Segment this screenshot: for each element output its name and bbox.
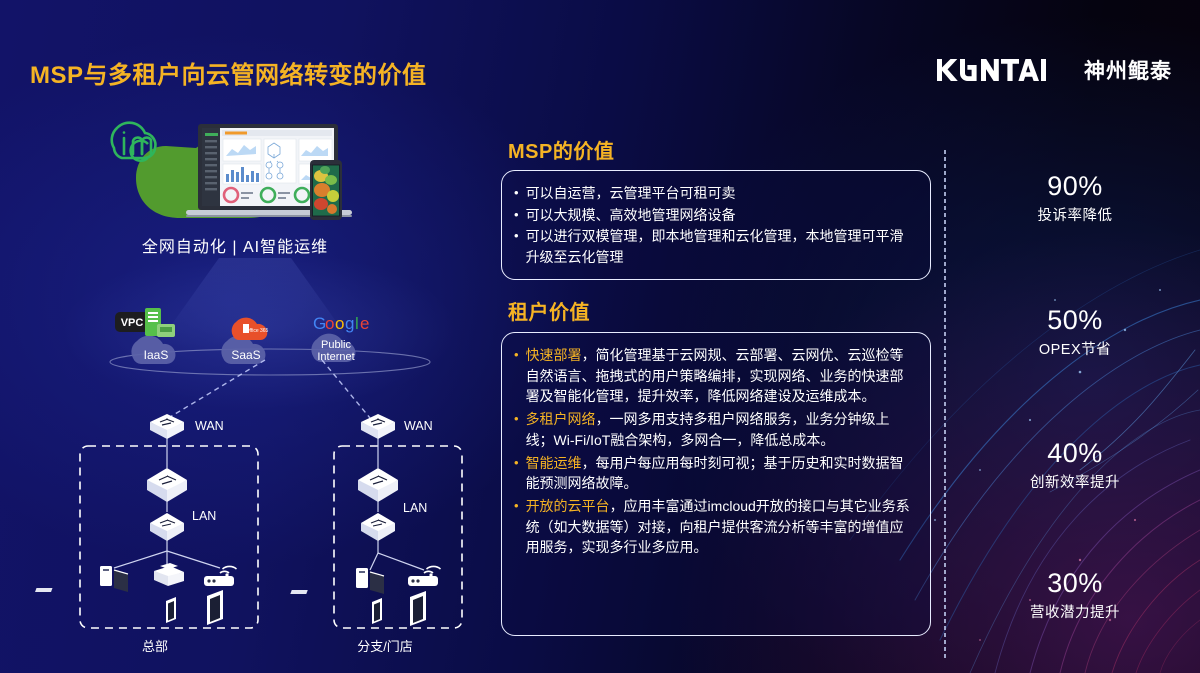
svg-text:Office 365: Office 365 bbox=[246, 328, 269, 334]
stat-number: 50% bbox=[960, 304, 1190, 336]
tablet-icon bbox=[166, 597, 176, 623]
msp-bullet-list: • 可以自运营，云管理平台可租可卖 • 可以大规模、高效地管理网络设备 • 可以… bbox=[502, 171, 930, 279]
topology-headquarters: WAN LAN bbox=[62, 408, 302, 633]
tablet-icon bbox=[372, 598, 382, 624]
cloud-platform-illustration bbox=[88, 108, 388, 233]
site-boundary bbox=[334, 446, 462, 628]
svg-text:l: l bbox=[355, 314, 359, 333]
stat-number: 30% bbox=[960, 567, 1190, 599]
wan-label: WAN bbox=[195, 419, 224, 433]
tenant-value-box: • 快速部署，简化管理基于云网规、云部署、云网优、云巡检等自然语言、拖拽式的用户… bbox=[501, 332, 931, 636]
list-item-text: 可以进行双模管理，即本地管理和云化管理，本地管理可平滑升级至云化管理 bbox=[526, 226, 916, 267]
list-item-text: 多租户网络，一网多用支持多租户网络服务，业务分钟级上线；Wi-Fi/IoT融合架… bbox=[526, 409, 916, 450]
core-switch-icon bbox=[358, 468, 398, 502]
keyword: 开放的云平台 bbox=[526, 498, 610, 514]
tablet-icon bbox=[410, 591, 426, 626]
site-label-hq: 总部 bbox=[100, 636, 210, 655]
svg-text:o: o bbox=[325, 314, 334, 333]
stat-label: 投诉率降低 bbox=[960, 204, 1190, 225]
wan-router-icon bbox=[150, 414, 184, 439]
list-item: • 开放的云平台，应用丰富通过imcloud开放的接口与其它业务系统（如大数据等… bbox=[514, 496, 916, 558]
list-item: • 可以大规模、高效地管理网络设备 bbox=[514, 205, 916, 226]
illustration-caption: 全网自动化 | AI智能运维 bbox=[90, 233, 380, 257]
cloud-public-internet: Public Internet bbox=[311, 334, 355, 363]
lan-label: LAN bbox=[403, 501, 427, 515]
bullet-dot: • bbox=[514, 183, 519, 202]
stat-number: 40% bbox=[960, 437, 1190, 469]
stat-label: 营收潜力提升 bbox=[960, 601, 1190, 622]
lan-label: LAN bbox=[192, 509, 216, 523]
office365-badge-icon: Office 365 bbox=[232, 318, 269, 340]
bullet-dot: • bbox=[514, 453, 519, 472]
keyword: 智能运维 bbox=[526, 455, 582, 471]
stat-number: 90% bbox=[960, 170, 1190, 202]
wan-label: WAN bbox=[404, 419, 433, 433]
svg-text:e: e bbox=[360, 314, 369, 333]
topology-branch: WAN LAN bbox=[312, 408, 492, 633]
brand-logo: 神州鲲泰 bbox=[935, 55, 1172, 85]
svg-text:VPC: VPC bbox=[121, 317, 144, 329]
wifi-ap-icon bbox=[408, 566, 441, 586]
svg-text:o: o bbox=[335, 314, 344, 333]
site-label-branch: 分支/门店 bbox=[330, 636, 440, 655]
list-item: • 快速部署，简化管理基于云网规、云部署、云网优、云巡检等自然语言、拖拽式的用户… bbox=[514, 345, 916, 407]
list-item: • 智能运维，每用户每应用每时刻可视；基于历史和实时数据智能预测网络故障。 bbox=[514, 453, 916, 494]
pc-icon bbox=[35, 566, 128, 592]
msp-value-box: • 可以自运营，云管理平台可租可卖 • 可以大规模、高效地管理网络设备 • 可以… bbox=[501, 170, 931, 280]
list-item-text: 开放的云平台，应用丰富通过imcloud开放的接口与其它业务系统（如大数据等）对… bbox=[526, 496, 916, 558]
stat-item: 50% OPEX节省 bbox=[960, 304, 1190, 359]
phone-heatmap-device bbox=[310, 160, 342, 220]
vpc-badge-icon: VPC bbox=[115, 312, 149, 332]
list-item-text: 智能运维，每用户每应用每时刻可视；基于历史和实时数据智能预测网络故障。 bbox=[526, 453, 916, 494]
tablet-icon bbox=[207, 590, 223, 625]
list-item: • 可以自运营，云管理平台可租可卖 bbox=[514, 183, 916, 204]
page-title: MSP与多租户向云管网络转变的价值 bbox=[30, 55, 427, 90]
lan-switch-icon bbox=[150, 513, 184, 541]
vertical-dotted-divider bbox=[944, 150, 946, 660]
lan-switch-icon bbox=[361, 513, 395, 541]
wifi-ap-icon bbox=[204, 566, 237, 586]
kuntai-logo-icon bbox=[935, 57, 1075, 83]
server-icon bbox=[145, 308, 175, 337]
list-item-text: 可以大规模、高效地管理网络设备 bbox=[526, 205, 916, 226]
list-item: • 可以进行双模管理，即本地管理和云化管理，本地管理可平滑升级至云化管理 bbox=[514, 226, 916, 267]
body-text: ，简化管理基于云网规、云部署、云网优、云巡检等自然语言、拖拽式的用户策略编排，实… bbox=[526, 347, 904, 404]
wan-router-icon bbox=[361, 414, 395, 439]
pc-icon bbox=[290, 568, 384, 594]
bullet-dot: • bbox=[514, 345, 519, 364]
stat-label: OPEX节省 bbox=[960, 338, 1190, 359]
svg-text:g: g bbox=[345, 314, 354, 333]
stat-item: 90% 投诉率降低 bbox=[960, 170, 1190, 225]
svg-text:Public: Public bbox=[321, 339, 351, 351]
printer-icon bbox=[154, 563, 184, 586]
stat-item: 40% 创新效率提升 bbox=[960, 437, 1190, 492]
bullet-dot: • bbox=[514, 205, 519, 224]
list-item-text: 快速部署，简化管理基于云网规、云部署、云网优、云巡检等自然语言、拖拽式的用户策略… bbox=[526, 345, 916, 407]
google-badge-icon: G o o g l e bbox=[313, 314, 369, 333]
logo-chinese-name: 神州鲲泰 bbox=[1084, 55, 1172, 85]
msp-section-heading: MSP的价值 bbox=[508, 135, 614, 164]
slide-canvas: MSP与多租户向云管网络转变的价值 神州鲲泰 bbox=[0, 0, 1200, 673]
keyword: 快速部署 bbox=[526, 347, 582, 363]
stat-item: 30% 营收潜力提升 bbox=[960, 567, 1190, 622]
keyword: 多租户网络 bbox=[526, 411, 596, 427]
list-item: • 多租户网络，一网多用支持多租户网络服务，业务分钟级上线；Wi-Fi/IoT融… bbox=[514, 409, 916, 450]
list-item-text: 可以自运营，云管理平台可租可卖 bbox=[526, 183, 916, 204]
stat-label: 创新效率提升 bbox=[960, 471, 1190, 492]
bullet-dot: • bbox=[514, 409, 519, 428]
bullet-dot: • bbox=[514, 496, 519, 515]
tenant-bullet-list: • 快速部署，简化管理基于云网规、云部署、云网优、云巡检等自然语言、拖拽式的用户… bbox=[502, 333, 930, 570]
bullet-dot: • bbox=[514, 226, 519, 245]
tenant-section-heading: 租户价值 bbox=[508, 296, 590, 325]
body-text: ，每用户每应用每时刻可视；基于历史和实时数据智能预测网络故障。 bbox=[526, 455, 904, 492]
core-switch-icon bbox=[147, 468, 187, 502]
